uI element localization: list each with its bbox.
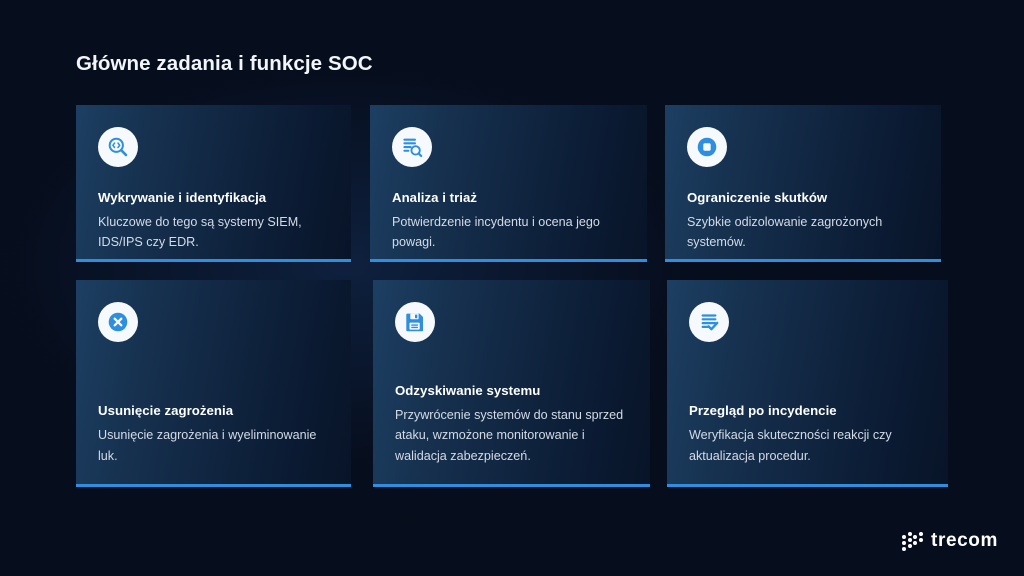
card-post-incident-review[interactable]: Przegląd po incydencie Weryfikacja skute… (667, 280, 948, 487)
card-recovery[interactable]: Odzyskiwanie systemu Przywrócenie system… (373, 280, 650, 487)
card-title: Analiza i triaż (392, 190, 625, 205)
card-title: Ograniczenie skutków (687, 190, 919, 205)
card-analysis[interactable]: Analiza i triaż Potwierdzenie incydentu … (370, 105, 647, 262)
card-text: Odzyskiwanie systemu Przywrócenie system… (395, 383, 628, 466)
card-text: Wykrywanie i identyfikacja Kluczowe do t… (98, 190, 329, 253)
card-eradication[interactable]: Usunięcie zagrożenia Usunięcie zagrożeni… (76, 280, 351, 487)
card-description: Usunięcie zagrożenia i wyeliminowanie lu… (98, 425, 329, 466)
card-description: Weryfikacja skuteczności reakcji czy akt… (689, 425, 926, 466)
stop-square-icon (687, 127, 727, 167)
card-detection[interactable]: Wykrywanie i identyfikacja Kluczowe do t… (76, 105, 351, 262)
document-check-icon (689, 302, 729, 342)
card-text: Przegląd po incydencie Weryfikacja skute… (689, 403, 926, 466)
card-title: Usunięcie zagrożenia (98, 403, 329, 418)
brand-logo: trecom (902, 530, 998, 552)
close-circle-icon (98, 302, 138, 342)
trecom-dots-mark (902, 531, 924, 552)
card-containment[interactable]: Ograniczenie skutków Szybkie odizolowani… (665, 105, 941, 262)
logo-wordmark: trecom (931, 530, 998, 552)
card-description: Kluczowe do tego są systemy SIEM, IDS/IP… (98, 212, 329, 253)
slide-canvas: Główne zadania i funkcje SOC Wykrywanie … (0, 0, 1024, 576)
document-search-icon (392, 127, 432, 167)
card-text: Usunięcie zagrożenia Usunięcie zagrożeni… (98, 403, 329, 466)
card-text: Ograniczenie skutków Szybkie odizolowani… (687, 190, 919, 253)
card-description: Przywrócenie systemów do stanu sprzed at… (395, 405, 628, 466)
magnifier-code-icon (98, 127, 138, 167)
card-text: Analiza i triaż Potwierdzenie incydentu … (392, 190, 625, 253)
page-title: Główne zadania i funkcje SOC (76, 52, 373, 76)
card-title: Przegląd po incydencie (689, 403, 926, 418)
card-description: Potwierdzenie incydentu i ocena jego pow… (392, 212, 625, 253)
card-title: Wykrywanie i identyfikacja (98, 190, 329, 205)
card-title: Odzyskiwanie systemu (395, 383, 628, 398)
save-floppy-icon (395, 302, 435, 342)
card-description: Szybkie odizolowanie zagrożonych systemó… (687, 212, 919, 253)
